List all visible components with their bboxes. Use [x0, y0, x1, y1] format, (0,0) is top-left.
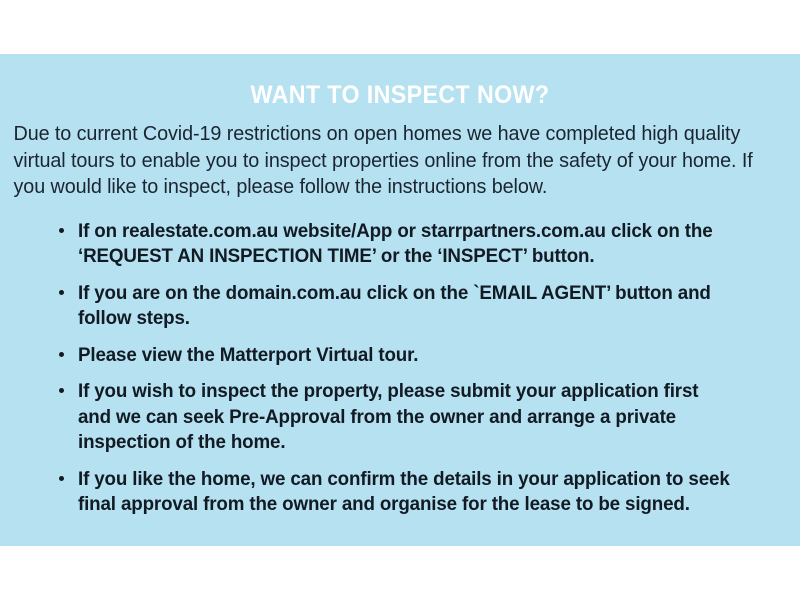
bullet-dot-icon [59, 352, 64, 357]
bullet-dot-icon [59, 388, 64, 393]
bullet-dot-icon [59, 228, 64, 233]
list-item: If you like the home, we can confirm the… [0, 467, 800, 518]
bullet-dot-icon [59, 476, 64, 481]
page-title: WANT TO INSPECT NOW? [28, 54, 772, 108]
list-item: If you wish to inspect the property, ple… [0, 379, 800, 456]
poster-canvas: WANT TO INSPECT NOW? Due to current Covi… [0, 0, 800, 600]
list-item: Please view the Matterport Virtual tour. [0, 343, 800, 369]
instructions-list: If on realestate.com.au website/App or s… [0, 201, 800, 518]
poster-content: WANT TO INSPECT NOW? Due to current Covi… [0, 54, 800, 546]
list-item-text: If on realestate.com.au website/App or s… [78, 219, 735, 270]
list-item-text: If you like the home, we can confirm the… [78, 467, 735, 518]
bullet-dot-icon [59, 290, 64, 295]
list-item-text: If you are on the domain.com.au click on… [78, 281, 735, 332]
list-item: If on realestate.com.au website/App or s… [0, 219, 800, 270]
list-item-text: If you wish to inspect the property, ple… [78, 379, 735, 456]
list-item: If you are on the domain.com.au click on… [0, 281, 800, 332]
intro-paragraph: Due to current Covid-19 restrictions on … [0, 108, 772, 201]
list-item-text: Please view the Matterport Virtual tour. [78, 343, 735, 369]
